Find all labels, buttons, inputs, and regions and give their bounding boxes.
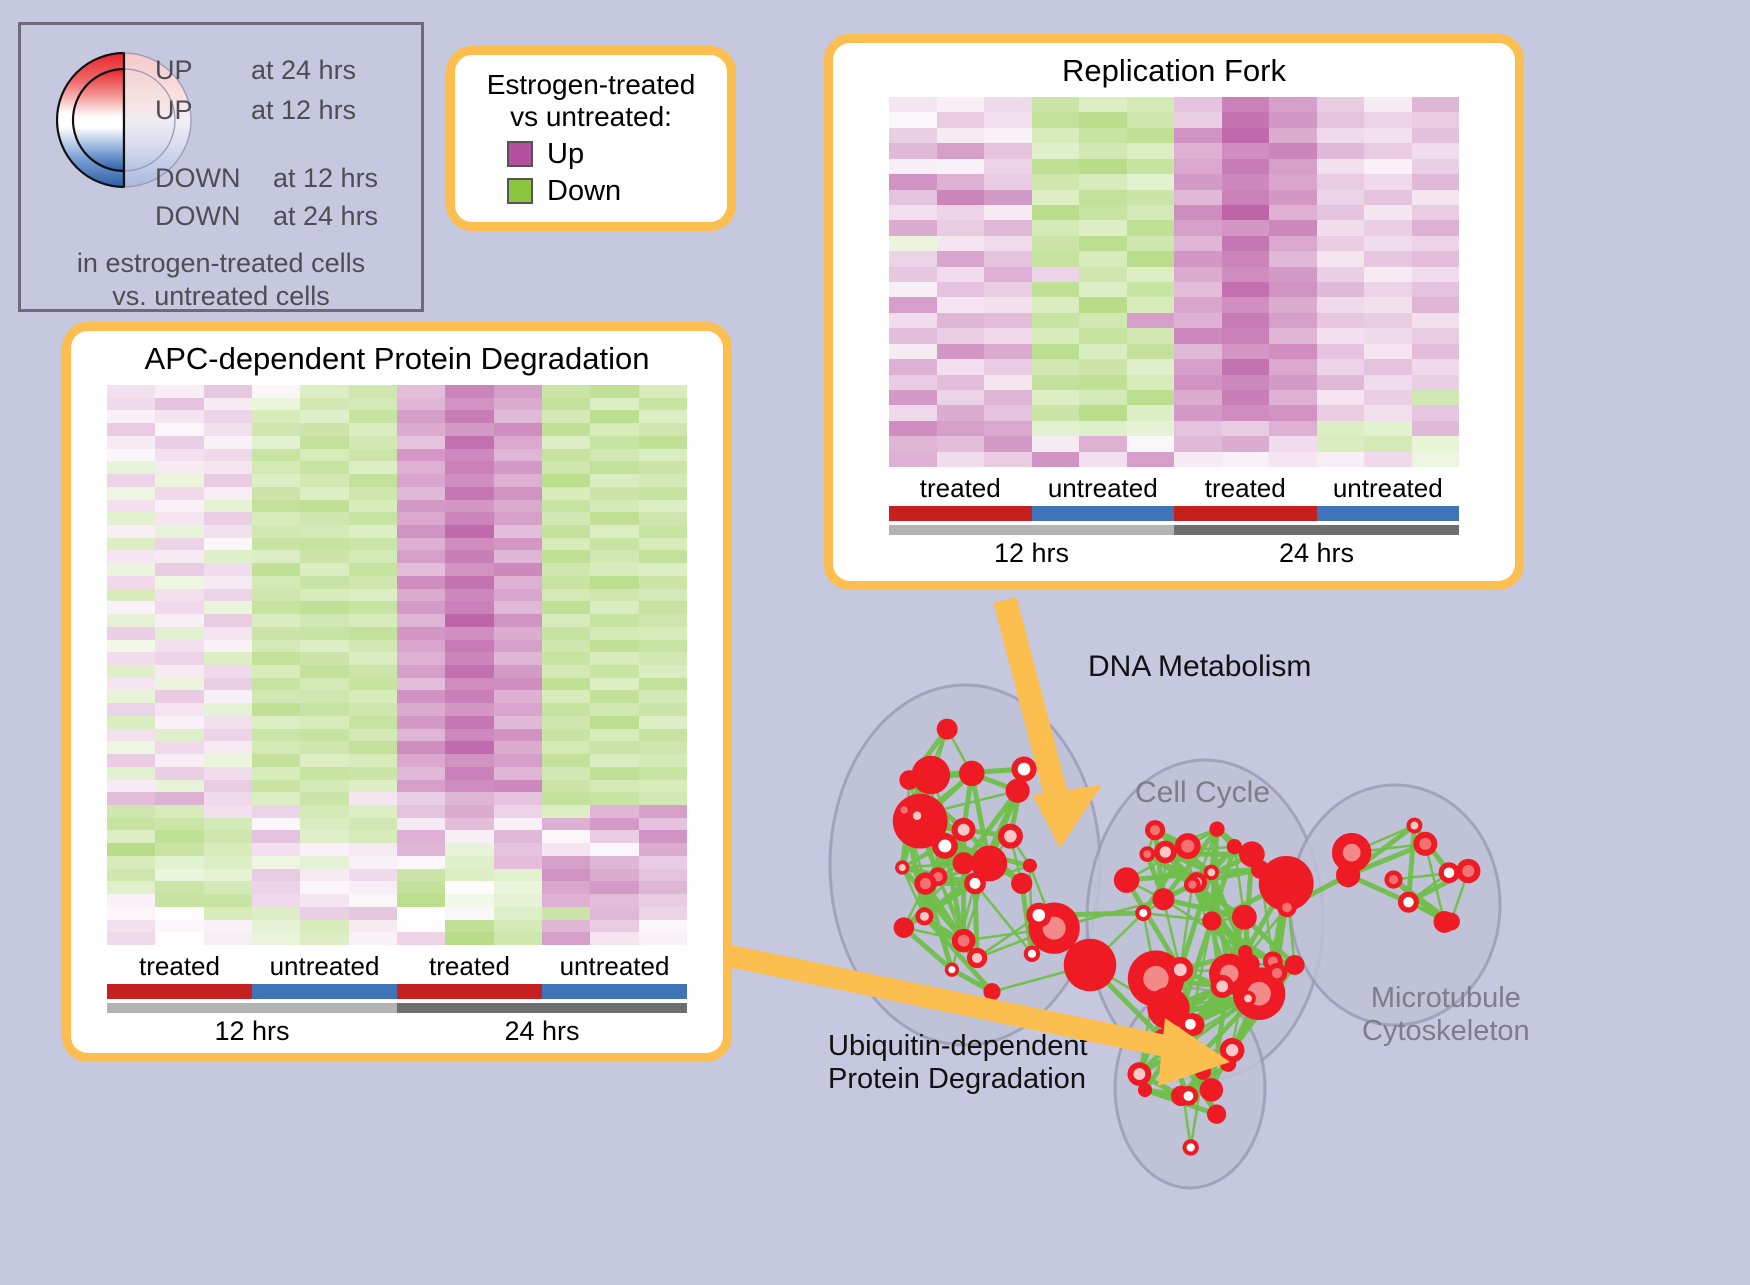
heatmap-cell [889,97,937,112]
heatmap-cell [1412,205,1460,220]
network-node[interactable] [1182,1059,1197,1074]
heatmap-cell [349,385,397,398]
network-node[interactable] [1239,841,1265,867]
network-node-core [1173,1048,1181,1056]
heatmap-cell [300,436,348,449]
heatmap-cell [542,589,590,602]
heatmap-cell [445,907,493,920]
network-node[interactable] [1195,1063,1212,1080]
heatmap-cell [639,398,687,411]
heatmap-cell [494,932,542,945]
heatmap-cell [984,143,1032,158]
heatmap-cell [1222,190,1270,205]
up-down-key-legend: Estrogen-treated vs untreated: Up Down [446,46,736,231]
replication-fork-time-labels: 12 hrs24 hrs [889,535,1459,569]
heatmap-cell [107,525,155,538]
heatmap-cell [542,932,590,945]
heatmap-cell [155,640,203,653]
network-node-core [1004,830,1016,842]
heatmap-cell [1222,452,1270,467]
heatmap-cell [445,398,493,411]
heatmap-cell [349,907,397,920]
heatmap-cell [445,461,493,474]
heatmap-cell [397,894,445,907]
heatmap-cell [590,385,638,398]
heatmap-cell [349,500,397,513]
network-node[interactable] [1011,873,1032,894]
heatmap-cell [445,500,493,513]
heatmap-cell [445,869,493,882]
heatmap-cell [155,665,203,678]
heatmap-cell [300,601,348,614]
heatmap-cell [1317,267,1365,282]
heatmap-cell [1032,390,1080,405]
heatmap-cell [397,461,445,474]
heatmap-cell [155,678,203,691]
heatmap-cell [155,767,203,780]
heatmap-cell [252,703,300,716]
heatmap-cell [204,869,252,882]
heatmap-cell [494,436,542,449]
heatmap-cell [1174,220,1222,235]
up-label: Up [547,138,584,171]
heatmap-cell [1412,159,1460,174]
network-node-core [920,912,929,921]
heatmap-cell [984,174,1032,189]
heatmap-cell [1412,220,1460,235]
heatmap-cell [300,410,348,423]
heatmap-cell [1317,328,1365,343]
heatmap-cell [1222,313,1270,328]
heatmap-cell [1032,282,1080,297]
time-label: 24 hrs [397,1013,687,1047]
heatmap-cell [1269,421,1317,436]
heatmap-cell [349,525,397,538]
treatment-bar-segment [542,984,687,999]
heatmap-cell [349,423,397,436]
heatmap-cell [494,690,542,703]
heatmap-cell [1317,220,1365,235]
heatmap-cell [300,614,348,627]
heatmap-cell [1364,313,1412,328]
heatmap-cell [590,512,638,525]
heatmap-cell [1269,143,1317,158]
heatmap-cell [542,856,590,869]
heatmap-cell [1174,421,1222,436]
heatmap-cell [155,932,203,945]
heatmap-cell [889,282,937,297]
heatmap-cell [494,703,542,716]
heatmap-cell [1412,282,1460,297]
heatmap-cell [155,729,203,742]
heatmap-cell [397,703,445,716]
heatmap-cell [494,652,542,665]
network-node-core [899,864,906,871]
heatmap-cell [1127,128,1175,143]
heatmap-cell [1317,452,1365,467]
heatmap-cell [937,205,985,220]
heatmap-cell [542,894,590,907]
heatmap-cell [1222,282,1270,297]
replication-fork-treatment-bar [889,506,1459,521]
heatmap-cell [639,601,687,614]
heatmap-cell [542,576,590,589]
heatmap-cell [349,563,397,576]
heatmap-cell [107,640,155,653]
heatmap-cell [445,843,493,856]
heatmap-cell [204,818,252,831]
wheel-ring-label-up-24: UP [155,57,193,84]
heatmap-cell [349,665,397,678]
network-node[interactable] [1285,955,1305,975]
network-node[interactable] [899,770,919,790]
heatmap-cell [252,716,300,729]
heatmap-cell [445,589,493,602]
heatmap-cell [107,843,155,856]
heatmap-cell [252,665,300,678]
heatmap-cell [1127,205,1175,220]
heatmap-cell [889,313,937,328]
heatmap-cell [155,601,203,614]
heatmap-cell [889,405,937,420]
heatmap-cell [349,550,397,563]
treatment-bar-segment [1317,506,1460,521]
heatmap-cell [639,818,687,831]
heatmap-cell [639,563,687,576]
heatmap-cell [1222,375,1270,390]
network-node-core [1419,838,1431,850]
heatmap-cell [1174,405,1222,420]
heatmap-cell [155,487,203,500]
heatmap-cell [1317,297,1365,312]
heatmap-cell [1079,143,1127,158]
heatmap-cell [639,614,687,627]
heatmap-cell [252,741,300,754]
heatmap-cell [107,932,155,945]
network-node-core [1444,867,1454,877]
heatmap-cell [445,856,493,869]
heatmap-cell [1127,421,1175,436]
heatmap-cell [397,843,445,856]
heatmap-cell [445,525,493,538]
heatmap-cell [1079,205,1127,220]
heatmap-cell [155,830,203,843]
heatmap-cell [542,729,590,742]
heatmap-cell [542,410,590,423]
heatmap-cell [542,449,590,462]
heatmap-cell [542,385,590,398]
heatmap-cell [445,678,493,691]
heatmap-cell [1317,375,1365,390]
heatmap-cell [204,601,252,614]
heatmap-cell [590,576,638,589]
heatmap-cell [889,112,937,127]
network-node[interactable] [1152,888,1174,910]
heatmap-cell [252,907,300,920]
heatmap-cell [1127,328,1175,343]
network-node[interactable] [1220,1056,1236,1072]
heatmap-cell [397,856,445,869]
heatmap-cell [445,729,493,742]
heatmap-cell [155,818,203,831]
wheel-legend-footer-line1: in estrogen-treated cells [21,247,421,280]
heatmap-cell [1079,128,1127,143]
heatmap-cell [397,830,445,843]
network-node[interactable] [1023,859,1037,873]
heatmap-cell [349,474,397,487]
network-node[interactable] [1232,905,1257,930]
heatmap-cell [349,843,397,856]
heatmap-cell [1222,359,1270,374]
heatmap-cell [590,780,638,793]
heatmap-cell [1032,375,1080,390]
heatmap-cell [300,830,348,843]
heatmap-cell [1079,452,1127,467]
heatmap-cell [984,251,1032,266]
heatmap-cell [1317,405,1365,420]
heatmap-cell [397,385,445,398]
heatmap-cell [107,512,155,525]
heatmap-cell [1079,328,1127,343]
network-node[interactable] [1138,1083,1152,1097]
heatmap-cell [155,805,203,818]
figure-canvas: UP at 24 hrs UP at 12 hrs DOWN at 12 hrs… [0,0,1750,1279]
heatmap-cell [639,538,687,551]
heatmap-cell [1269,390,1317,405]
heatmap-cell [349,780,397,793]
heatmap-cell [590,410,638,423]
heatmap-cell [107,894,155,907]
heatmap-cell [1079,405,1127,420]
heatmap-cell [1032,267,1080,282]
colour-wheel-legend: UP at 24 hrs UP at 12 hrs DOWN at 12 hrs… [18,22,424,312]
heatmap-cell [1364,159,1412,174]
heatmap-cell [1364,205,1412,220]
heatmap-cell [1174,436,1222,451]
heatmap-cell [542,690,590,703]
heatmap-cell [889,328,937,343]
heatmap-cell [494,512,542,525]
heatmap-cell [445,385,493,398]
heatmap-cell [445,754,493,767]
network-node-core [1139,909,1147,917]
heatmap-cell [349,627,397,640]
heatmap-cell [349,792,397,805]
heatmap-cell [1222,220,1270,235]
network-node[interactable] [1064,939,1117,992]
heatmap-cell [1174,313,1222,328]
heatmap-cell [590,627,638,640]
heatmap-cell [590,614,638,627]
heatmap-cell [349,818,397,831]
heatmap-cell [1412,344,1460,359]
heatmap-cell [300,550,348,563]
time-bar-segment [1174,525,1459,535]
heatmap-cell [590,818,638,831]
heatmap-cell [252,805,300,818]
heatmap-cell [639,652,687,665]
heatmap-cell [107,589,155,602]
wheel-legend-footer-line2: vs. untreated cells [21,280,421,313]
heatmap-cell [494,856,542,869]
apc-time-labels: 12 hrs24 hrs [107,1013,687,1047]
heatmap-cell [1032,344,1080,359]
network-node[interactable] [937,719,958,740]
heatmap-cell [1412,375,1460,390]
heatmap-cell [590,920,638,933]
heatmap-cell [1079,112,1127,127]
heatmap-cell [1269,267,1317,282]
heatmap-cell [1174,159,1222,174]
heatmap-cell [397,423,445,436]
heatmap-cell [639,805,687,818]
heatmap-cell [155,869,203,882]
heatmap-cell [639,780,687,793]
heatmap-cell [937,313,985,328]
heatmap-cell [542,665,590,678]
heatmap-cell [1127,143,1175,158]
heatmap-cell [349,436,397,449]
heatmap-cell [1269,205,1317,220]
apc-title: APC-dependent Protein Degradation [71,341,723,377]
heatmap-cell [252,436,300,449]
heatmap-cell [204,627,252,640]
heatmap-cell [397,449,445,462]
heatmap-cell [1269,251,1317,266]
heatmap-cell [397,754,445,767]
network-node-core [958,935,970,947]
heatmap-cell [349,920,397,933]
heatmap-cell [1317,174,1365,189]
heatmap-cell [494,805,542,818]
heatmap-cell [639,729,687,742]
heatmap-cell [639,576,687,589]
heatmap-cell [300,525,348,538]
network-node[interactable] [1006,779,1030,803]
network-node[interactable] [1433,911,1455,933]
heatmap-cell [1079,267,1127,282]
heatmap-cell [1174,97,1222,112]
cluster-label-dna-metabolism: DNA Metabolism [1088,650,1311,685]
network-node[interactable] [953,852,975,874]
heatmap-cell [1317,436,1365,451]
heatmap-cell [349,869,397,882]
heatmap-cell [889,143,937,158]
heatmap-cell [107,385,155,398]
heatmap-cell [937,390,985,405]
heatmap-cell [542,907,590,920]
heatmap-cell [300,767,348,780]
wheel-ring-label-down-12: DOWN [155,165,240,192]
network-node-core [1184,1091,1194,1101]
network-node[interactable] [983,983,1000,1000]
heatmap-cell [252,869,300,882]
heatmap-cell [937,359,985,374]
heatmap-cell [397,512,445,525]
heatmap-cell [397,767,445,780]
wheel-ring-label-down-24: DOWN [155,203,240,230]
heatmap-cell [300,576,348,589]
heatmap-cell [889,297,937,312]
heatmap-cell [494,601,542,614]
treatment-bar-segment [252,984,397,999]
network-node[interactable] [1200,1078,1223,1101]
heatmap-cell [494,563,542,576]
heatmap-cell [542,563,590,576]
heatmap-cell [1079,174,1127,189]
network-node[interactable] [1209,822,1224,837]
heatmap-cell [155,538,203,551]
heatmap-cell [155,741,203,754]
heatmap-cell [984,97,1032,112]
heatmap-cell [349,729,397,742]
heatmap-cell [445,474,493,487]
heatmap-cell [542,538,590,551]
heatmap-cell [204,563,252,576]
heatmap-cell [300,665,348,678]
heatmap-cell [1269,282,1317,297]
heatmap-cell [252,780,300,793]
heatmap-cell [1079,421,1127,436]
heatmap-cell [639,856,687,869]
heatmap-cell [204,881,252,894]
heatmap-cell [1032,128,1080,143]
heatmap-cell [445,932,493,945]
heatmap-cell [889,190,937,205]
network-node[interactable] [1202,911,1221,930]
heatmap-cell [494,907,542,920]
heatmap-cell [445,716,493,729]
heatmap-cell [1269,190,1317,205]
heatmap-cell [300,754,348,767]
heatmap-cell [1127,251,1175,266]
heatmap-cell [494,410,542,423]
network-node[interactable] [1336,863,1360,887]
network-node[interactable] [894,917,915,938]
heatmap-cell [1079,436,1127,451]
heatmap-cell [1079,97,1127,112]
heatmap-cell [889,421,937,436]
heatmap-cell [204,729,252,742]
heatmap-cell [639,500,687,513]
heatmap-cell [494,449,542,462]
heatmap-cell [639,703,687,716]
network-node[interactable] [1207,1105,1226,1124]
heatmap-cell [445,920,493,933]
heatmap-cell [1174,190,1222,205]
heatmap-cell [1364,359,1412,374]
heatmap-cell [300,843,348,856]
heatmap-cell [252,474,300,487]
network-node[interactable] [1114,867,1140,893]
heatmap-cell [1412,112,1460,127]
heatmap-cell [107,627,155,640]
network-node[interactable] [1239,954,1260,975]
heatmap-cell [349,652,397,665]
heatmap-cell [1222,328,1270,343]
heatmap-cell [639,589,687,602]
heatmap-cell [1222,421,1270,436]
heatmap-cell [107,550,155,563]
heatmap-cell [252,487,300,500]
heatmap-cell [1364,375,1412,390]
heatmap-cell [107,716,155,729]
heatmap-cell [639,410,687,423]
heatmap-cell [300,741,348,754]
network-node[interactable] [959,761,985,787]
heatmap-cell [204,423,252,436]
heatmap-cell [107,805,155,818]
